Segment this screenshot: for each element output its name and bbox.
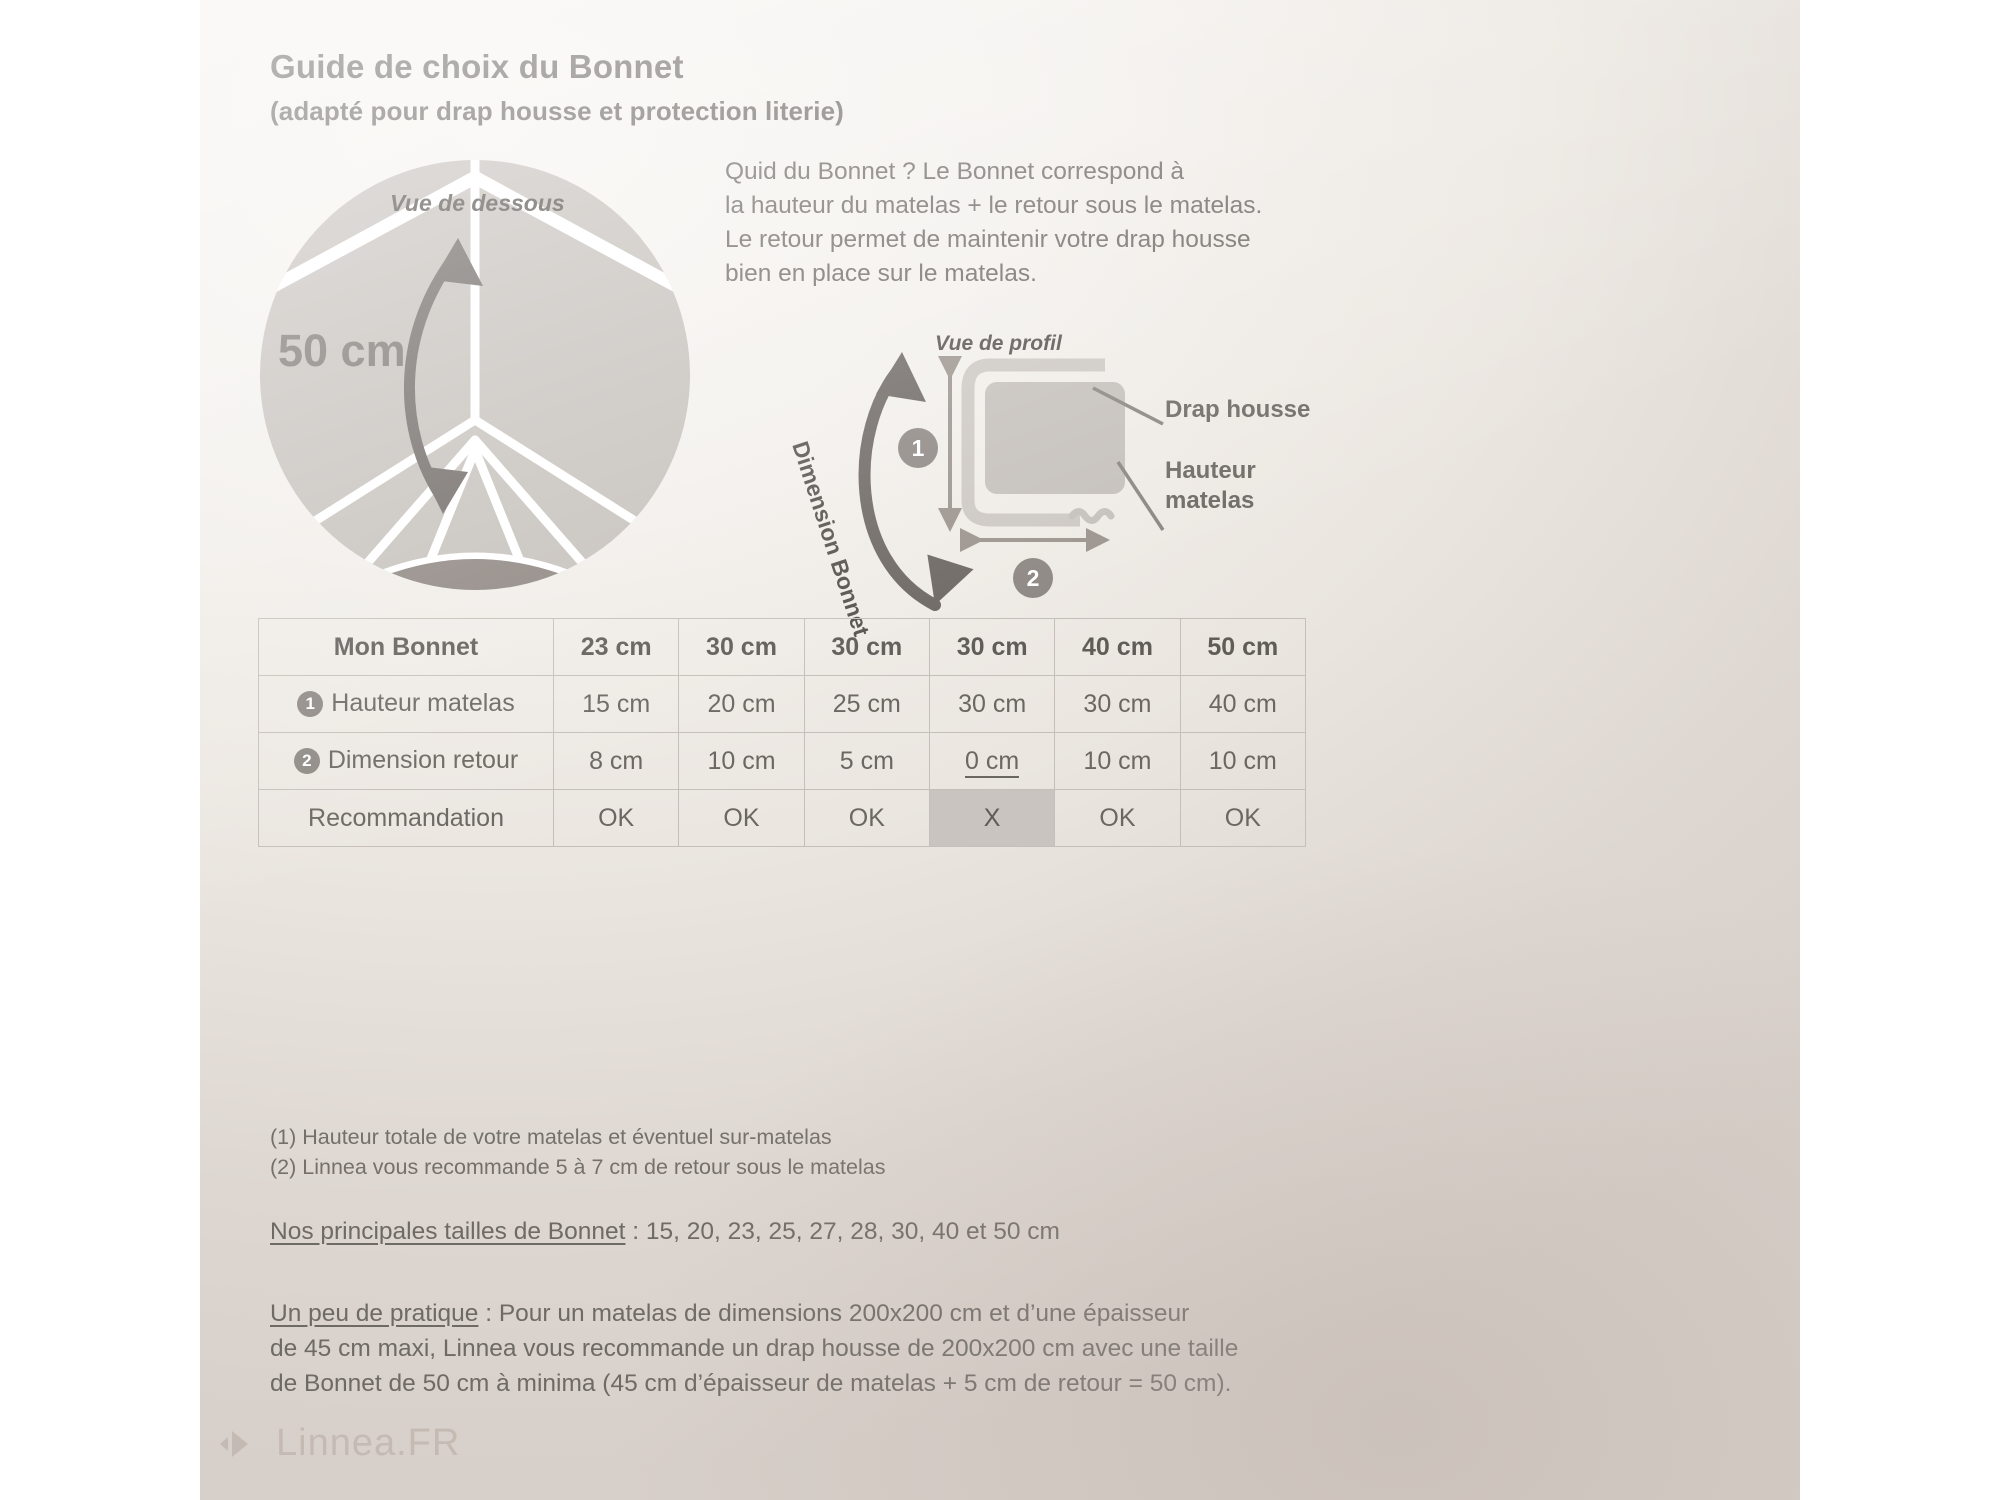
intro-paragraph: Quid du Bonnet ? Le Bonnet correspond à …: [725, 155, 1345, 291]
cell-r1-c5: 10 cm: [1180, 733, 1305, 790]
linnea-logo: Linnea.FR: [218, 1422, 460, 1465]
table-row: 2Dimension retour 8 cm 10 cm 5 cm 0 cm 1…: [259, 733, 1306, 790]
sizes-line: Nos principales tailles de Bonnet : 15, …: [270, 1218, 1060, 1246]
table-header-cell-6: 50 cm: [1180, 619, 1305, 676]
practice-line-1: Un peu de pratique : Pour un matelas de …: [270, 1296, 1238, 1331]
row-label-recommandation: Recommandation: [259, 790, 554, 847]
cell-r1-c1: 10 cm: [679, 733, 804, 790]
infographic-artboard: 1 2 Vue de dessous 50 cm Vue de profil D…: [200, 0, 1800, 1500]
cell-r0-c5: 40 cm: [1180, 676, 1305, 733]
table-header-cell-1: 23 cm: [554, 619, 679, 676]
row-label-hauteur-matelas: 1Hauteur matelas: [259, 676, 554, 733]
practice-line-2: de 45 cm maxi, Linnea vous recommande un…: [270, 1331, 1238, 1366]
practice-line-1-rest: : Pour un matelas de dimensions 200x200 …: [478, 1300, 1189, 1327]
sizes-label: Nos principales tailles de Bonnet: [270, 1218, 625, 1245]
row-label-dimension-retour: 2Dimension retour: [259, 733, 554, 790]
table-header-cell-0: Mon Bonnet: [259, 619, 554, 676]
practice-line-3: de Bonnet de 50 cm à minima (45 cm d’épa…: [270, 1366, 1238, 1401]
svg-text:2: 2: [1027, 565, 1040, 591]
bonnet-size-table: Mon Bonnet 23 cm 30 cm 30 cm 30 cm 40 cm…: [258, 618, 1306, 847]
label-drap-housse: Drap housse: [1165, 396, 1310, 424]
linnea-diamond-icon: [218, 1427, 264, 1461]
intro-line-3: Le retour permet de maintenir votre drap…: [725, 223, 1345, 257]
label-hauteur-matelas: Hauteur matelas: [1165, 456, 1325, 516]
table-header-cell-5: 40 cm: [1055, 619, 1180, 676]
linnea-logo-text: Linnea.FR: [276, 1422, 460, 1465]
badge-1: 1: [297, 691, 323, 717]
cell-r2-c1: OK: [679, 790, 804, 847]
label-hauteur-line1: Hauteur: [1165, 457, 1256, 484]
practice-block: Un peu de pratique : Pour un matelas de …: [270, 1296, 1238, 1401]
mattress-bottom-illustration: [200, 95, 800, 660]
cell-r0-c2: 25 cm: [804, 676, 929, 733]
screenshot-root: 1 2 Vue de dessous 50 cm Vue de profil D…: [0, 0, 2000, 1500]
cell-r1-c4: 10 cm: [1055, 733, 1180, 790]
cell-r2-c5: OK: [1180, 790, 1305, 847]
bottom-view-measure: 50 cm: [278, 325, 406, 377]
cell-r0-c3: 30 cm: [929, 676, 1054, 733]
cell-r2-c3-status-bad: X: [929, 790, 1054, 847]
cell-r1-c0: 8 cm: [554, 733, 679, 790]
cell-r1-c3-text: 0 cm: [965, 747, 1019, 778]
table-header-row: Mon Bonnet 23 cm 30 cm 30 cm 30 cm 40 cm…: [259, 619, 1306, 676]
profile-badge-2: 2: [1013, 558, 1053, 598]
profile-illustration: [968, 365, 1125, 521]
table-header-cell-4: 30 cm: [929, 619, 1054, 676]
table-header-cell-2: 30 cm: [679, 619, 804, 676]
table-header-cell-3: 30 cm: [804, 619, 929, 676]
intro-line-4: bien en place sur le matelas.: [725, 257, 1345, 291]
cell-r1-c3: 0 cm: [929, 733, 1054, 790]
intro-line-1: Quid du Bonnet ? Le Bonnet correspond à: [725, 155, 1345, 189]
sizes-rest: : 15, 20, 23, 25, 27, 28, 30, 40 et 50 c…: [625, 1218, 1060, 1245]
row-label-text: Hauteur matelas: [331, 689, 514, 717]
cell-r1-c2: 5 cm: [804, 733, 929, 790]
label-hauteur-line2: matelas: [1165, 487, 1254, 514]
intro-line-2: la hauteur du matelas + le retour sous l…: [725, 189, 1345, 223]
bottom-view-caption: Vue de dessous: [390, 190, 565, 217]
page-subtitle: (adapté pour drap housse et protection l…: [270, 96, 844, 127]
cell-r0-c4: 30 cm: [1055, 676, 1180, 733]
table-row: 1Hauteur matelas 15 cm 20 cm 25 cm 30 cm…: [259, 676, 1306, 733]
row-label-text: Dimension retour: [328, 746, 518, 774]
footnote-2: (2) Linnea vous recommande 5 à 7 cm de r…: [270, 1152, 885, 1182]
cell-r0-c0: 15 cm: [554, 676, 679, 733]
footnote-1: (1) Hauteur totale de votre matelas et é…: [270, 1122, 832, 1152]
page-title: Guide de choix du Bonnet: [270, 48, 684, 86]
dimension-bonnet-arc-arrow: [865, 352, 974, 613]
svg-text:1: 1: [912, 435, 925, 461]
badge-2: 2: [294, 748, 320, 774]
cell-r0-c1: 20 cm: [679, 676, 804, 733]
cell-r2-c2: OK: [804, 790, 929, 847]
profile-view-caption: Vue de profil: [935, 332, 1062, 356]
cell-r2-c4: OK: [1055, 790, 1180, 847]
profile-badge-1: 1: [898, 428, 938, 468]
practice-label: Un peu de pratique: [270, 1300, 478, 1327]
table-row: Recommandation OK OK OK X OK OK: [259, 790, 1306, 847]
cell-r2-c0: OK: [554, 790, 679, 847]
